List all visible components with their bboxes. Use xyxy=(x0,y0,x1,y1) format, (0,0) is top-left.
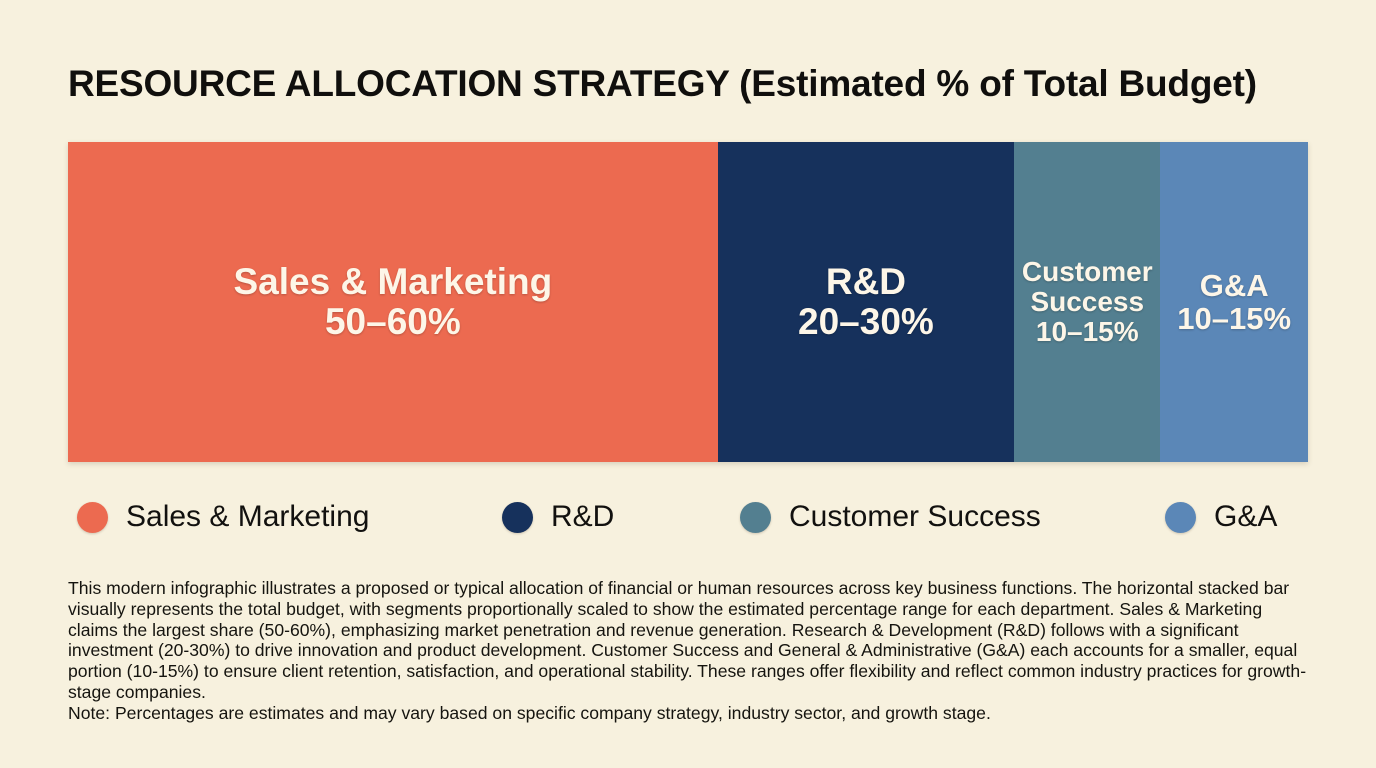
bar-segment-label: Customer Success xyxy=(1022,257,1153,317)
description-body: This modern infographic illustrates a pr… xyxy=(68,578,1311,703)
bar-segment-value: 10–15% xyxy=(1177,302,1291,335)
bar-segment-value: 50–60% xyxy=(325,302,461,342)
bar-segment-rnd[interactable]: R&D 20–30% xyxy=(718,142,1014,462)
bar-segment-gna[interactable]: G&A 10–15% xyxy=(1160,142,1308,462)
description-note: Note: Percentages are estimates and may … xyxy=(68,703,1311,724)
legend-item-label: Sales & Marketing xyxy=(126,500,369,534)
legend-item-label: R&D xyxy=(551,500,614,534)
legend-swatch-icon xyxy=(502,502,533,533)
legend-item-sales-marketing[interactable]: Sales & Marketing xyxy=(77,492,369,542)
infographic-canvas: RESOURCE ALLOCATION STRATEGY (Estimated … xyxy=(0,0,1376,768)
bar-segment-value: 20–30% xyxy=(798,302,934,342)
legend-item-label: G&A xyxy=(1214,500,1277,534)
bar-segment-label: G&A xyxy=(1200,269,1269,302)
chart-legend: Sales & Marketing R&D Customer Success G… xyxy=(68,492,1308,542)
legend-item-rnd[interactable]: R&D xyxy=(502,492,614,542)
bar-segment-sales-marketing[interactable]: Sales & Marketing 50–60% xyxy=(68,142,718,462)
legend-swatch-icon xyxy=(77,502,108,533)
legend-item-customer-success[interactable]: Customer Success xyxy=(740,492,1041,542)
bar-segment-customer-success[interactable]: Customer Success 10–15% xyxy=(1014,142,1160,462)
bar-segment-label: R&D xyxy=(826,262,906,302)
legend-item-label: Customer Success xyxy=(789,500,1041,534)
description-block: This modern infographic illustrates a pr… xyxy=(68,578,1311,724)
legend-swatch-icon xyxy=(740,502,771,533)
legend-item-gna[interactable]: G&A xyxy=(1165,492,1277,542)
legend-swatch-icon xyxy=(1165,502,1196,533)
bar-segment-label: Sales & Marketing xyxy=(234,262,553,302)
stacked-bar-chart: Sales & Marketing 50–60% R&D 20–30% Cust… xyxy=(68,142,1308,462)
page-title: RESOURCE ALLOCATION STRATEGY (Estimated … xyxy=(68,63,1318,105)
bar-segment-value: 10–15% xyxy=(1036,317,1139,347)
